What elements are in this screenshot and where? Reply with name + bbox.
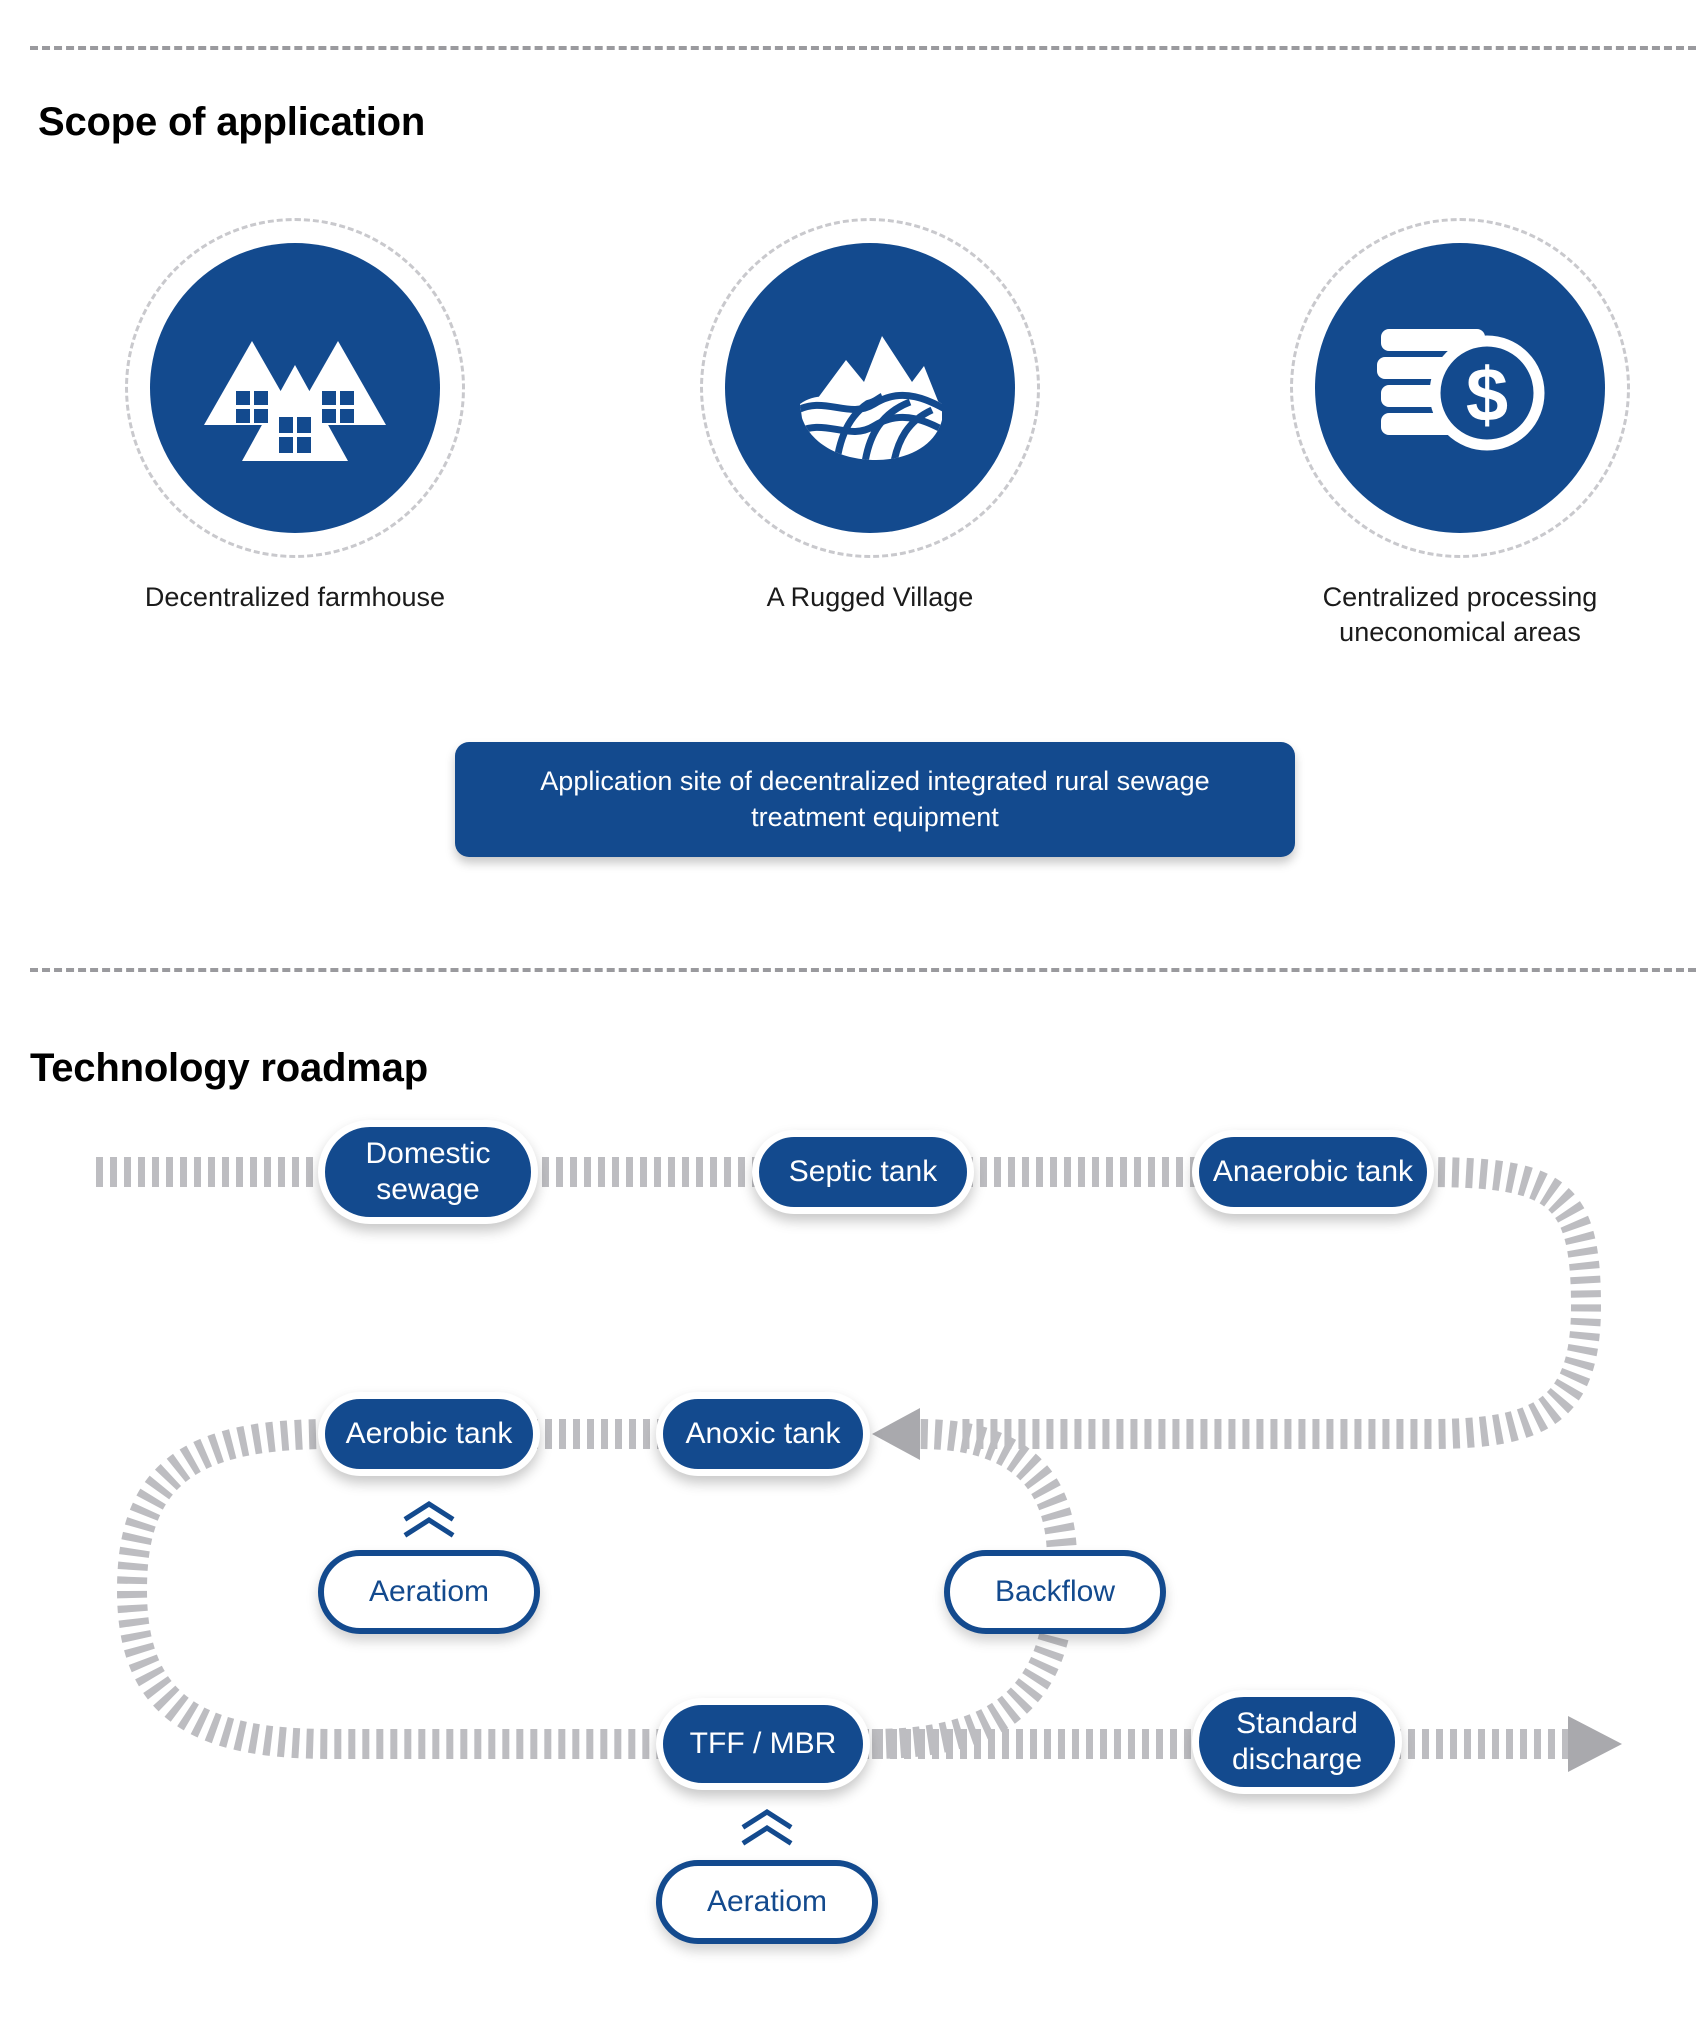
technology-roadmap-diagram: .trk { fill: none; stroke: #bdbdc1; stro… [0, 1120, 1696, 2020]
svg-text:$: $ [1466, 353, 1508, 438]
page-title-scope: Scope of application [38, 100, 425, 145]
divider-top [30, 46, 1696, 50]
scope-item-centralized-processing: $ Centralized processing uneconomical ar… [1240, 218, 1680, 649]
node-standard-discharge[interactable]: Standard discharge [1192, 1690, 1402, 1794]
scope-item-label: A Rugged Village [650, 580, 1090, 615]
scope-item-decentralized-farmhouse: Decentralized farmhouse [75, 218, 515, 615]
node-aeration-tff[interactable]: Aeratiom [656, 1860, 878, 1944]
node-aeration-aerobic[interactable]: Aeratiom [318, 1550, 540, 1634]
farmhouse-icon [150, 243, 440, 533]
divider-middle [30, 968, 1696, 972]
aeration-chevron-icon [401, 1498, 457, 1542]
node-anoxic-tank[interactable]: Anoxic tank [656, 1392, 870, 1476]
arrowhead-into-anoxic [872, 1408, 920, 1460]
scope-item-label: Decentralized farmhouse [75, 580, 515, 615]
money-coins-icon: $ [1315, 243, 1605, 533]
node-domestic-sewage[interactable]: Domestic sewage [318, 1120, 538, 1224]
application-site-banner: Application site of decentralized integr… [455, 742, 1295, 857]
node-backflow[interactable]: Backflow [944, 1550, 1166, 1634]
node-tff-mbr[interactable]: TFF / MBR [656, 1698, 870, 1790]
arrowhead-outflow [1568, 1716, 1622, 1772]
scope-item-label: Centralized processing uneconomical area… [1240, 580, 1680, 649]
page-title-roadmap: Technology roadmap [30, 1046, 428, 1091]
village-mountain-icon [725, 243, 1015, 533]
node-septic-tank[interactable]: Septic tank [752, 1130, 974, 1214]
scope-item-rugged-village: A Rugged Village [650, 218, 1090, 615]
node-aerobic-tank[interactable]: Aerobic tank [318, 1392, 540, 1476]
icon-badge: $ [1290, 218, 1630, 558]
scope-items-row: Decentralized farmhouse [0, 218, 1696, 638]
node-anaerobic-tank[interactable]: Anaerobic tank [1192, 1130, 1434, 1214]
icon-badge [125, 218, 465, 558]
icon-badge [700, 218, 1040, 558]
aeration-chevron-icon [739, 1806, 795, 1850]
